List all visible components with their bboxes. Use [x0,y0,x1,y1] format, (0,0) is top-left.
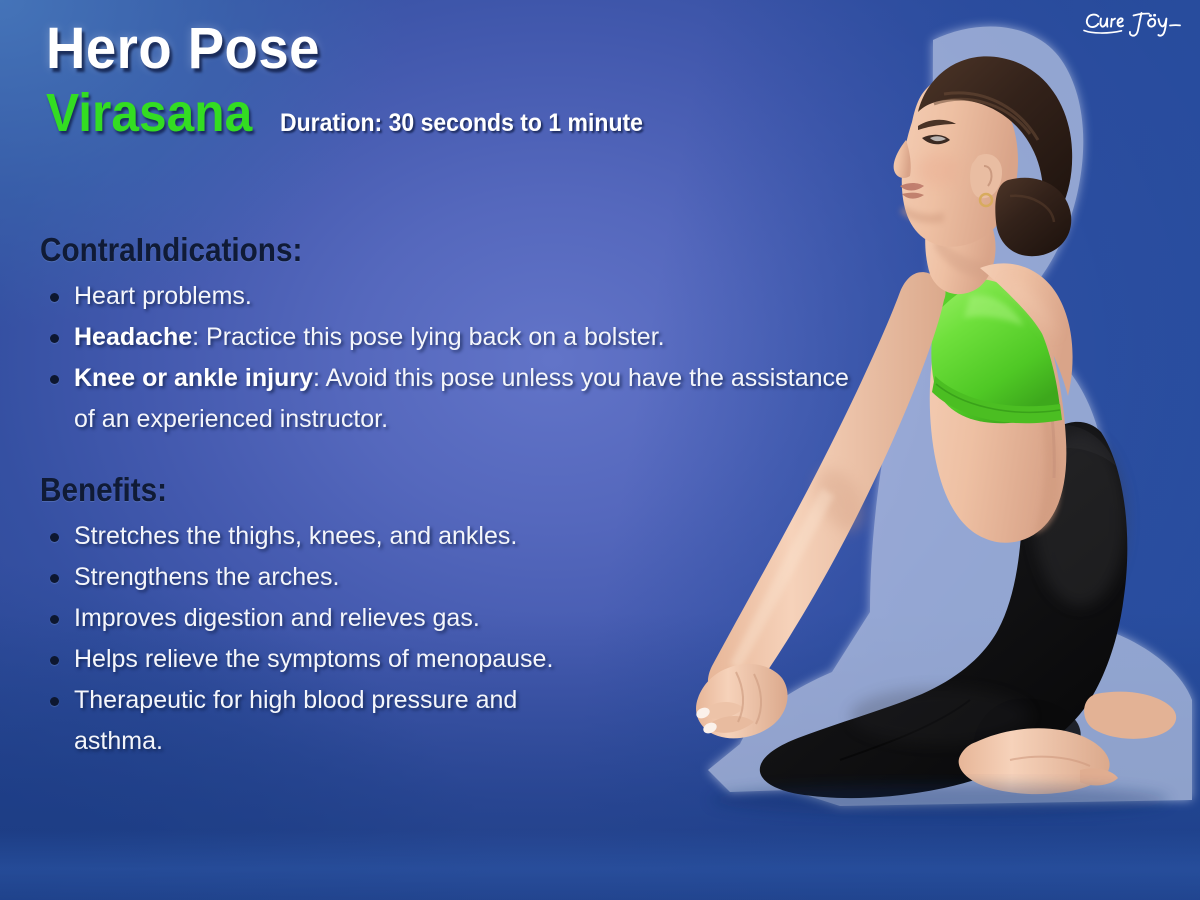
list-item: Strengthens the arches. [40,557,600,598]
benefits-list: Stretches the thighs, knees, and ankles.… [40,516,880,762]
curejoy-script-logo [1084,13,1180,36]
list-item: Helps relieve the symptoms of menopause. [40,639,600,680]
list-item-text: Therapeutic for high blood pressure and … [74,686,517,755]
duration-text: Duration: 30 seconds to 1 minute [280,109,643,137]
list-item: Improves digestion and relieves gas. [40,598,600,639]
section-contraindications: ContraIndications: Heart problems. Heada… [40,232,880,440]
list-item-lead: Headache [74,323,192,351]
subtitle-row: Virasana Duration: 30 seconds to 1 minut… [46,84,806,142]
section-benefits: Benefits: Stretches the thighs, knees, a… [40,472,880,762]
list-item: Heart problems. [40,276,860,317]
list-item: Knee or ankle injury: Avoid this pose un… [40,358,860,440]
contraindications-heading: ContraIndications: [40,232,796,268]
text-content: Hero Pose Virasana Duration: 30 seconds … [0,0,900,900]
list-item-text: Improves digestion and relieves gas. [74,604,480,632]
curejoy-logo[interactable] [1078,6,1186,40]
contraindications-list: Heart problems. Headache: Practice this … [40,276,880,440]
title-block: Hero Pose Virasana Duration: 30 seconds … [46,18,806,142]
list-item-text: Helps relieve the symptoms of menopause. [74,645,553,673]
list-item-text: Stretches the thighs, knees, and ankles. [74,522,517,550]
list-item-lead: Knee or ankle injury [74,364,313,392]
list-item-text: : Practice this pose lying back on a bol… [192,323,664,351]
list-item: Headache: Practice this pose lying back … [40,317,860,358]
benefits-heading: Benefits: [40,472,796,508]
list-item-text: Strengthens the arches. [74,563,339,591]
sanskrit-name: Virasana [46,84,252,142]
list-item: Therapeutic for high blood pressure and … [40,680,600,762]
page-title: Hero Pose [46,18,760,80]
infographic-poster: Hero Pose Virasana Duration: 30 seconds … [0,0,1200,900]
list-item-text: Heart problems. [74,282,252,310]
list-item: Stretches the thighs, knees, and ankles. [40,516,600,557]
